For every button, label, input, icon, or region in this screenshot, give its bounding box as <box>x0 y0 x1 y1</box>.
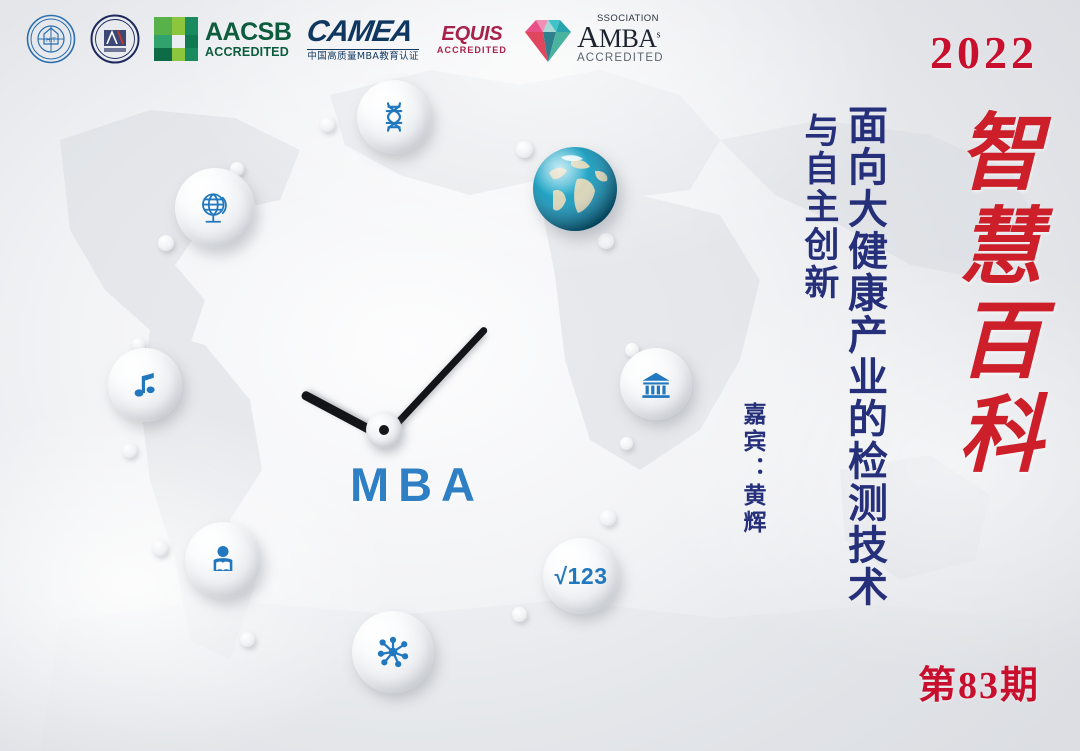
guest-label: 嘉宾：黄辉 <box>736 402 770 537</box>
clock-marker-dot <box>240 632 255 647</box>
clock-marker-dot <box>516 141 533 158</box>
earth-globe-ball[interactable] <box>533 147 617 231</box>
desk-globe-icon <box>197 190 233 226</box>
subtitle-line-2: 与自主创新 <box>800 112 836 302</box>
mba-wordmark: MBA <box>302 457 532 512</box>
clock-marker-dot <box>620 437 633 450</box>
reader-person-icon <box>206 543 240 577</box>
clock-marker-dot <box>512 607 527 622</box>
clock-center-cap <box>366 412 402 448</box>
music-note-icon <box>129 369 161 401</box>
amba-main-label: AMBAs <box>577 21 664 52</box>
university-seal-blue-icon: HIT <box>26 14 76 64</box>
reader-person-ball[interactable] <box>185 522 261 598</box>
issue-number-label: 第83期 <box>918 654 1040 709</box>
dna-ball[interactable] <box>357 80 431 154</box>
molecule-ball[interactable] <box>352 611 434 693</box>
amba-letters-mba: MBA <box>599 24 657 53</box>
equis-accredited-label: ACCREDITED <box>437 46 507 55</box>
business-school-seal-navy-icon <box>90 14 140 64</box>
aacsb-mark-icon <box>154 17 198 61</box>
clock-marker-dot <box>158 235 174 251</box>
amba-letter-s: s <box>657 29 660 40</box>
aacsb-label: AACSB <box>205 20 291 45</box>
bank-building-ball[interactable] <box>620 348 692 420</box>
poster-canvas: HIT <box>0 0 1080 751</box>
camea-logo: CAMEA 中国高质量MBA教育认证 <box>307 17 419 62</box>
clock-marker-dot <box>600 510 616 526</box>
clock-marker-dot <box>152 540 168 556</box>
amba-accredited-label: ACCREDITED <box>577 53 664 65</box>
aacsb-accredited-label: ACCREDITED <box>205 46 291 59</box>
equis-logo: EQUIS ACCREDITED <box>437 24 507 55</box>
year-label: 2022 <box>930 26 1038 79</box>
earth-globe-icon <box>533 147 617 231</box>
dna-icon <box>377 100 411 134</box>
square-root-icon: √123 <box>555 563 608 590</box>
mba-clock: √123 <box>80 60 700 700</box>
math-root-ball[interactable]: √123 <box>543 538 619 614</box>
episode-subtitle: 与自主创新 面向大健康产业的检测技术 <box>800 104 884 608</box>
desk-globe-ball[interactable] <box>175 168 255 248</box>
bank-building-icon <box>640 368 672 400</box>
clock-marker-dot <box>122 443 137 458</box>
clock-marker-dot <box>320 117 335 132</box>
amba-letter-a: A <box>577 19 599 54</box>
camea-label: CAMEA <box>305 17 421 47</box>
music-note-ball[interactable] <box>108 348 182 422</box>
molecule-icon <box>374 633 412 671</box>
subtitle-line-1: 面向大健康产业的检测技术 <box>842 104 884 608</box>
camea-chinese-label: 中国高质量MBA教育认证 <box>307 49 419 62</box>
clock-marker-dot <box>598 233 614 249</box>
amba-logo: SSOCIATION AMBAs ACCREDITED <box>523 14 664 64</box>
equis-label: EQUIS <box>437 24 507 44</box>
svg-text:HIT: HIT <box>46 37 56 44</box>
amba-gem-icon <box>523 16 573 62</box>
series-title-calligraphy: 智慧百科 <box>952 108 1036 484</box>
accreditation-logo-bar: HIT <box>26 14 664 64</box>
aacsb-logo: AACSB ACCREDITED <box>154 17 291 61</box>
